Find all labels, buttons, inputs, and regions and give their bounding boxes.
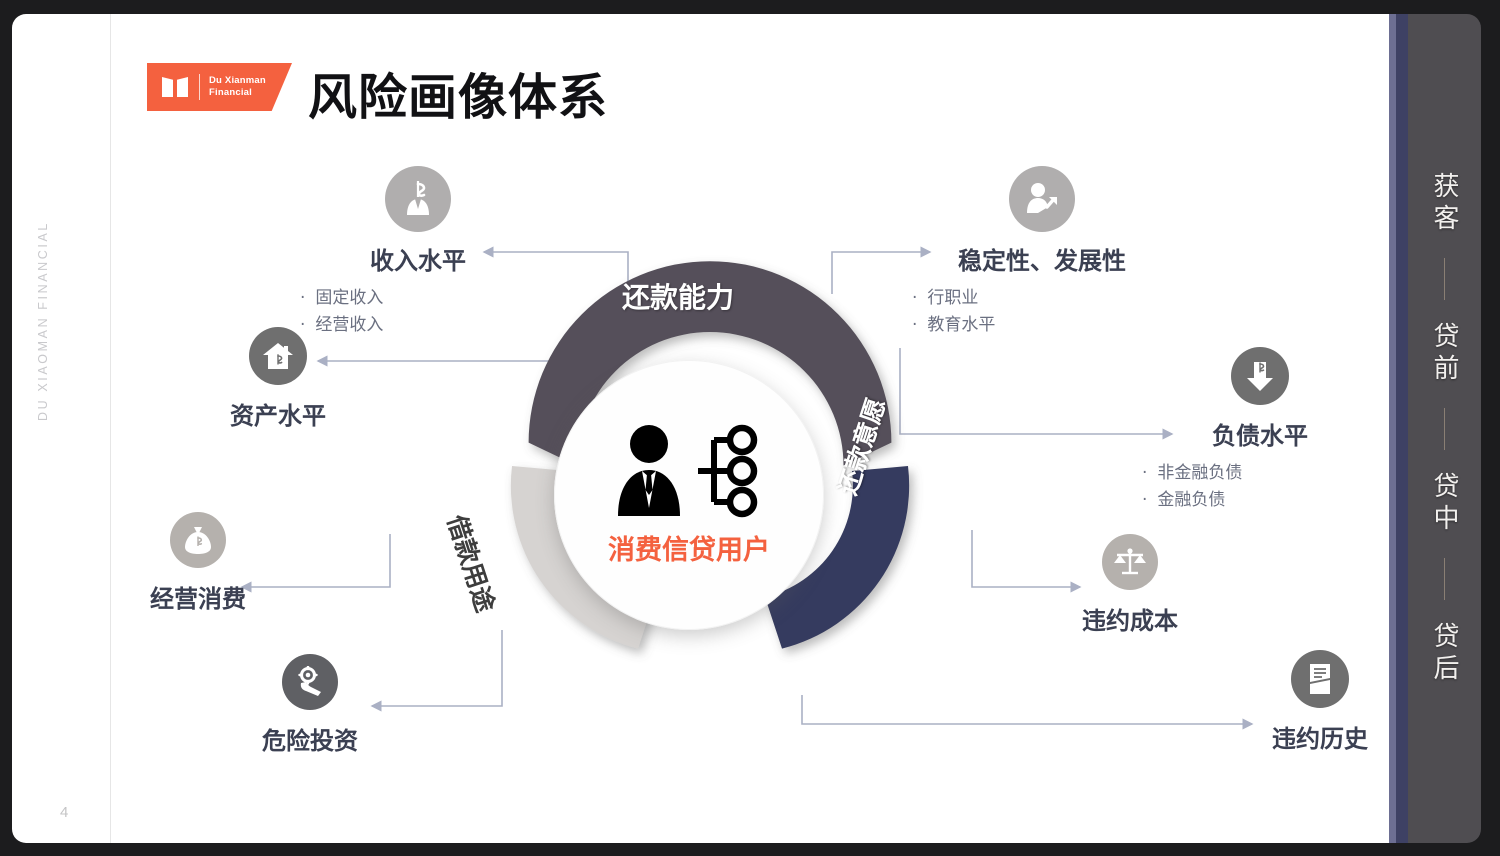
node-business-consumption[interactable]: 经营消费 bbox=[80, 512, 316, 614]
money-bag-icon bbox=[170, 512, 226, 568]
house-dollar-icon bbox=[249, 327, 307, 385]
node-income-level[interactable]: 收入水平 ·固定收入 ·经营收入 bbox=[300, 166, 536, 339]
node-bullets: ·行职业 ·教育水平 bbox=[912, 285, 1172, 339]
scales-balance-icon bbox=[1102, 534, 1158, 590]
money-hand-icon bbox=[385, 166, 451, 232]
node-title: 违约成本 bbox=[1012, 601, 1248, 636]
bullet-dot: · bbox=[1142, 490, 1147, 510]
center-label: 消费信贷用户 bbox=[608, 528, 770, 567]
risk-profile-diagram: 还款能力 借款用途 还款意愿 bbox=[12, 14, 1392, 843]
bullet-text: 固定收入 bbox=[315, 288, 383, 308]
node-default-history[interactable]: 违约历史 bbox=[1202, 650, 1392, 754]
node-title: 稳定性、发展性 bbox=[912, 241, 1172, 276]
center-core: 消费信贷用户 bbox=[554, 360, 824, 630]
person-growth-icon bbox=[1009, 166, 1075, 232]
rail-separator bbox=[1444, 408, 1445, 450]
slide-root: DU XIAOMAN FINANCIAL 4 Du Xianman Financ… bbox=[0, 0, 1500, 856]
rail-separator bbox=[1444, 258, 1445, 300]
node-default-cost[interactable]: 违约成本 bbox=[1012, 534, 1248, 636]
hand-gear-icon bbox=[282, 654, 338, 710]
bullet-text: 行职业 bbox=[927, 288, 978, 308]
node-title: 资产水平 bbox=[160, 396, 396, 431]
rail-item-during-loan[interactable]: 贷中 bbox=[1426, 472, 1463, 536]
node-title: 违约历史 bbox=[1202, 719, 1392, 754]
rail-panel: 获客 贷前 贷中 贷后 bbox=[1408, 14, 1481, 843]
list-item: ·固定收入 bbox=[300, 285, 536, 312]
bullet-text: 非金融负债 bbox=[1157, 463, 1242, 483]
node-title: 经营消费 bbox=[80, 579, 316, 614]
rail-strip-accent bbox=[1396, 14, 1408, 843]
node-stability-growth[interactable]: 稳定性、发展性 ·行职业 ·教育水平 bbox=[912, 166, 1172, 339]
rail-strip-light bbox=[1389, 14, 1396, 843]
node-risky-investment[interactable]: 危险投资 bbox=[192, 654, 428, 756]
rail-item-post-loan[interactable]: 贷后 bbox=[1426, 622, 1463, 686]
stage-rail: 获客 贷前 贷中 贷后 bbox=[1389, 14, 1481, 843]
list-item: ·行职业 bbox=[912, 285, 1172, 312]
node-bullets: ·非金融负债 ·金融负债 bbox=[1142, 460, 1378, 514]
slide-canvas: DU XIAOMAN FINANCIAL 4 Du Xianman Financ… bbox=[12, 14, 1392, 843]
bullet-text: 教育水平 bbox=[927, 315, 995, 335]
arc-label-repayment-ability: 还款能力 bbox=[622, 276, 734, 316]
node-debt-level[interactable]: 负债水平 ·非金融负债 ·金融负债 bbox=[1142, 347, 1378, 514]
node-title: 收入水平 bbox=[300, 241, 536, 276]
list-item: ·金融负债 bbox=[1142, 487, 1378, 514]
user-orgchart-icon bbox=[614, 424, 764, 518]
torn-document-icon bbox=[1291, 650, 1349, 708]
list-item: ·教育水平 bbox=[912, 312, 1172, 339]
node-title: 危险投资 bbox=[192, 721, 428, 756]
arrow-down-dollar-icon bbox=[1231, 347, 1289, 405]
rail-item-pre-loan[interactable]: 贷前 bbox=[1426, 322, 1463, 386]
bullet-dot: · bbox=[300, 288, 305, 308]
list-item: ·非金融负债 bbox=[1142, 460, 1378, 487]
node-title: 负债水平 bbox=[1142, 416, 1378, 451]
rail-separator bbox=[1444, 558, 1445, 600]
bullet-dot: · bbox=[1142, 463, 1147, 483]
rail-item-acquisition[interactable]: 获客 bbox=[1426, 172, 1463, 236]
bullet-dot: · bbox=[912, 288, 917, 308]
node-asset-level[interactable]: 资产水平 bbox=[160, 327, 396, 431]
bullet-text: 金融负债 bbox=[1157, 490, 1225, 510]
bullet-dot: · bbox=[912, 315, 917, 335]
